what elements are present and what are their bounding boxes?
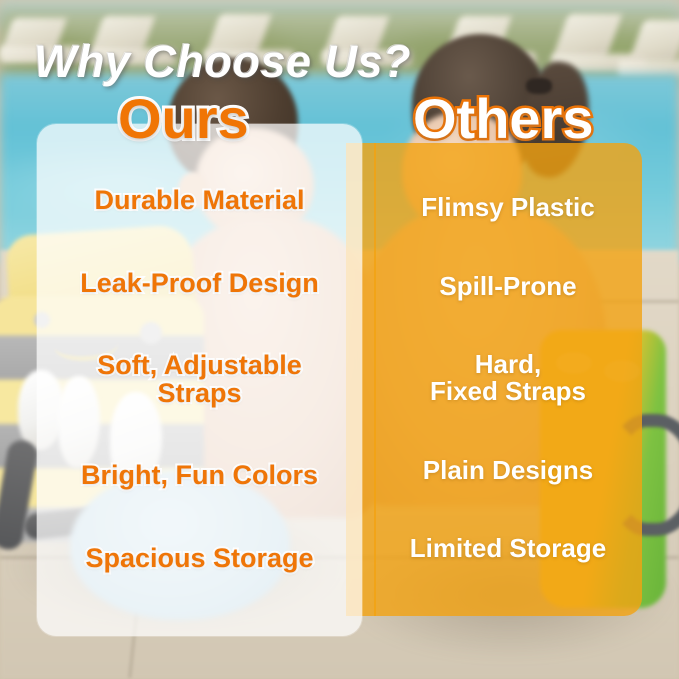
ours-feature-item: Leak-Proof Design [37, 270, 362, 298]
ours-feature-item: Soft, AdjustableStraps [37, 352, 362, 407]
others-feature-item: Spill-Prone [374, 273, 642, 300]
ours-feature-item: Bright, Fun Colors [37, 462, 362, 490]
others-feature-item: Limited Storage [374, 535, 642, 562]
ours-feature-item: Spacious Storage [37, 545, 362, 573]
others-heading: Others [413, 86, 594, 151]
others-feature-list: Flimsy Plastic Spill-Prone Hard,Fixed St… [374, 168, 642, 588]
comparison-infographic: Why Choose Us? Ours Others Durable Mater… [0, 0, 679, 679]
page-title: Why Choose Us? [34, 36, 411, 88]
others-feature-item: Hard,Fixed Straps [374, 351, 642, 404]
ours-heading: Ours [118, 86, 249, 151]
ours-feature-item: Durable Material [37, 187, 362, 215]
others-feature-item: Flimsy Plastic [374, 194, 642, 221]
ours-feature-list: Durable Material Leak-Proof Design Soft,… [37, 160, 362, 600]
others-feature-item: Plain Designs [374, 457, 642, 484]
